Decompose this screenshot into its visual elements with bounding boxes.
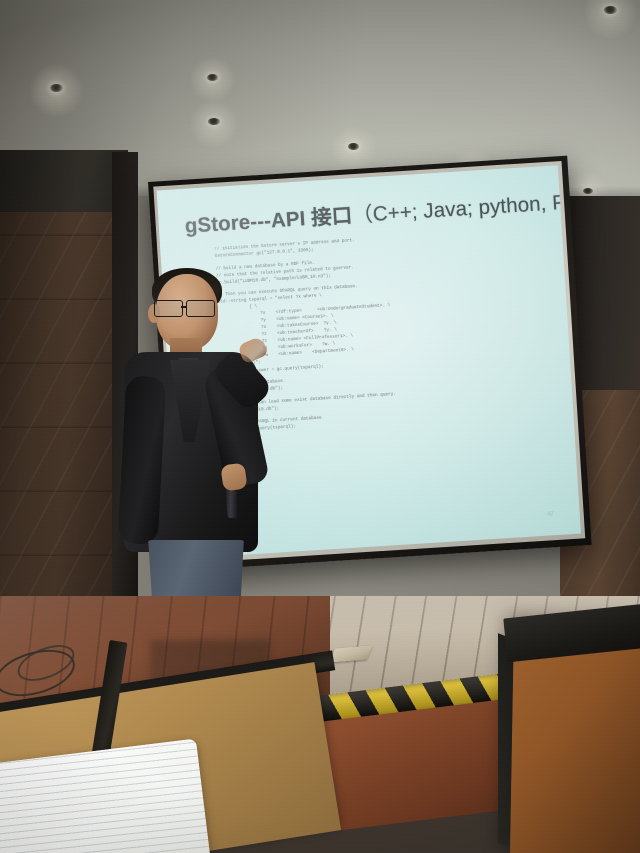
ceiling-downlight-2 <box>208 118 220 125</box>
eyeglasses-right-lens <box>186 300 215 317</box>
ceiling-downlight-6 <box>604 6 617 14</box>
eyeglasses-icon <box>154 300 220 315</box>
lecture-hall-photo: gStore---API 接口（C++; Java; python, PHP） … <box>0 0 640 853</box>
ceiling-downlight-0 <box>50 84 63 92</box>
left-wall-shadow <box>0 150 128 620</box>
slide-title-languages: （C++; Java; python, PHP） <box>352 188 581 227</box>
ceiling-downlight-3 <box>348 143 359 150</box>
slide-title-main: gStore---API 接口 <box>184 204 353 237</box>
ceiling-downlight-1 <box>207 74 218 81</box>
slide-number: 42 <box>547 511 554 517</box>
presenter-mic-hand <box>220 462 247 491</box>
eyeglasses-left-lens <box>154 300 183 317</box>
